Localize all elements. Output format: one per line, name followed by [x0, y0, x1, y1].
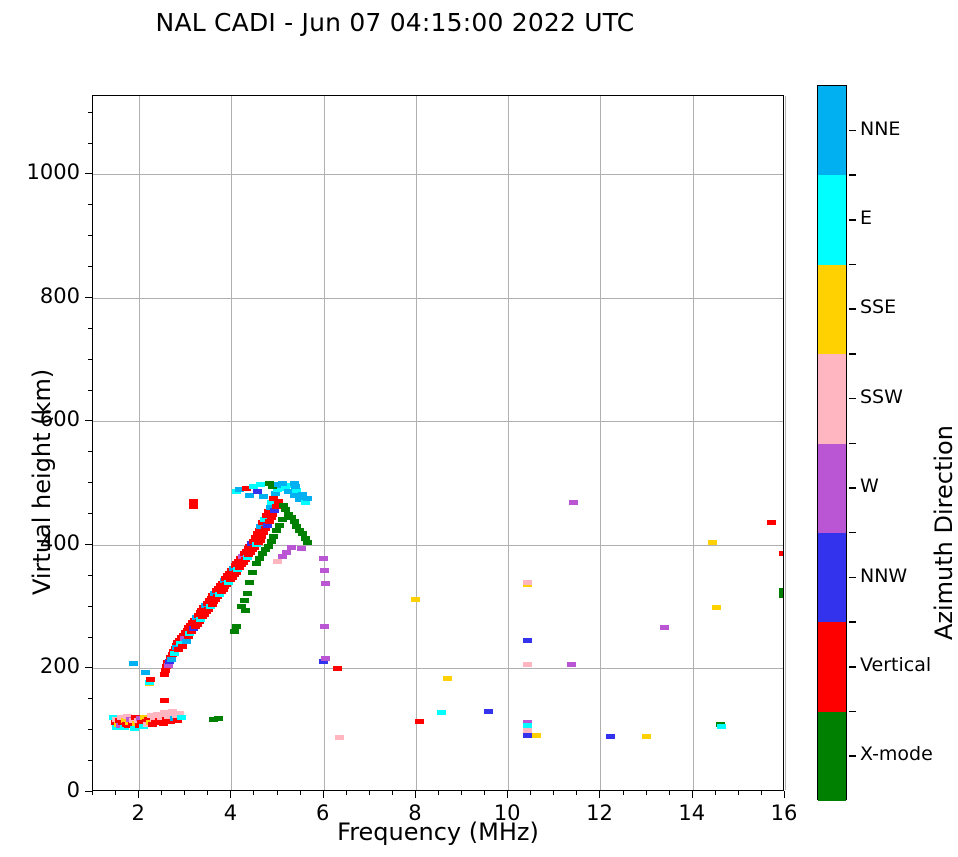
- echo-point: [178, 644, 187, 649]
- x-tick-mark: [576, 791, 577, 795]
- y-tick-label: 800: [10, 284, 80, 308]
- echo-point: [164, 663, 173, 668]
- azimuth-colorbar: [817, 85, 847, 800]
- y-tick-mark: [88, 266, 92, 267]
- colorbar-tick-mark: [849, 398, 856, 400]
- x-tick-mark: [161, 791, 162, 795]
- colorbar-tick-label: X-mode: [860, 743, 933, 765]
- colorbar-boundary-tick: [849, 532, 856, 534]
- echo-point: [189, 504, 198, 509]
- echo-point: [321, 656, 330, 661]
- x-tick-mark: [300, 791, 301, 795]
- x-tick-mark: [507, 791, 508, 798]
- x-tick-mark: [253, 791, 254, 795]
- colorbar-tick-mark: [849, 666, 856, 668]
- colorbar-tick-mark: [849, 130, 856, 132]
- x-tick-mark: [669, 791, 670, 795]
- x-tick-mark: [553, 791, 554, 795]
- y-tick-mark: [85, 791, 92, 792]
- x-tick-mark: [115, 791, 116, 795]
- y-tick-mark: [85, 544, 92, 545]
- echo-point: [779, 593, 783, 598]
- colorbar-segment-vertical: [818, 622, 846, 711]
- y-tick-mark: [88, 729, 92, 730]
- x-tick-mark: [138, 791, 139, 798]
- colorbar-tick-label: NNE: [860, 118, 900, 140]
- y-tick-mark: [88, 513, 92, 514]
- echo-point: [320, 624, 329, 629]
- y-tick-mark: [88, 451, 92, 452]
- colorbar-tick-mark: [849, 487, 856, 489]
- echo-point: [415, 719, 424, 724]
- x-tick-mark: [207, 791, 208, 795]
- echo-point: [642, 734, 651, 739]
- echo-point: [767, 520, 776, 525]
- x-tick-mark: [230, 791, 231, 798]
- x-tick-mark: [461, 791, 462, 795]
- echo-point: [532, 733, 541, 738]
- x-tick-mark: [784, 791, 785, 798]
- echo-point: [182, 639, 191, 644]
- echo-point: [569, 500, 578, 505]
- echo-point: [484, 709, 493, 714]
- colorbar-tick-mark: [849, 755, 856, 757]
- y-tick-mark: [85, 667, 92, 668]
- echo-point: [161, 668, 170, 673]
- gridline-vertical: [785, 96, 786, 790]
- echo-point: [243, 591, 252, 596]
- echo-point: [437, 710, 446, 715]
- x-axis-label: Frequency (MHz): [92, 818, 784, 846]
- y-tick-mark: [85, 173, 92, 174]
- echo-point: [259, 494, 268, 499]
- x-tick-mark: [646, 791, 647, 795]
- colorbar-boundary-tick: [849, 353, 856, 355]
- y-tick-label: 1000: [10, 160, 80, 184]
- echo-point: [272, 528, 281, 533]
- echo-point: [779, 551, 783, 556]
- echo-point: [248, 570, 257, 575]
- y-tick-mark: [88, 235, 92, 236]
- colorbar-tick-label: NNW: [860, 565, 907, 587]
- colorbar-tick-label: SSW: [860, 386, 903, 408]
- colorbar-tick-label: SSE: [860, 296, 896, 318]
- y-tick-mark: [88, 112, 92, 113]
- colorbar-boundary-tick: [849, 711, 856, 713]
- echo-point: [708, 540, 717, 545]
- echo-point: [129, 661, 138, 666]
- colorbar-tick-label: E: [860, 207, 872, 229]
- x-tick-mark: [92, 791, 93, 795]
- echo-point: [606, 734, 615, 739]
- colorbar-segment-x-mode: [818, 712, 846, 801]
- echo-point: [297, 546, 306, 551]
- echo-point: [319, 556, 328, 561]
- echo-point: [241, 608, 250, 613]
- y-tick-mark: [88, 482, 92, 483]
- x-tick-mark: [623, 791, 624, 795]
- echo-point: [240, 598, 249, 603]
- echo-point: [160, 698, 169, 703]
- echo-point: [278, 517, 287, 522]
- x-tick-mark: [438, 791, 439, 795]
- echo-point: [443, 676, 452, 681]
- colorbar-tick-mark: [849, 308, 856, 310]
- colorbar-segment-nne: [818, 86, 846, 175]
- colorbar-boundary-tick: [849, 621, 856, 623]
- echo-point: [177, 715, 186, 720]
- colorbar-tick-mark: [849, 577, 856, 579]
- echo-point: [291, 484, 300, 489]
- colorbar-tick-label: Vertical: [860, 654, 931, 676]
- echo-point: [141, 670, 150, 675]
- echo-point: [321, 581, 330, 586]
- x-tick-mark: [323, 791, 324, 798]
- x-tick-mark: [415, 791, 416, 798]
- colorbar-boundary-tick: [849, 174, 856, 176]
- colorbar-segment-ssw: [818, 354, 846, 443]
- y-tick-mark: [88, 328, 92, 329]
- y-tick-mark: [88, 390, 92, 391]
- echo-point: [523, 580, 532, 585]
- echo-point: [301, 500, 310, 505]
- y-tick-mark: [85, 420, 92, 421]
- x-tick-mark: [738, 791, 739, 795]
- x-tick-mark: [715, 791, 716, 795]
- echo-point: [523, 733, 532, 738]
- colorbar-boundary-tick: [849, 443, 856, 445]
- echo-point: [333, 666, 342, 671]
- echo-point: [167, 657, 176, 662]
- colorbar-boundary-tick: [849, 264, 856, 266]
- colorbar-segment-w: [818, 444, 846, 533]
- x-tick-mark: [484, 791, 485, 795]
- x-tick-mark: [392, 791, 393, 795]
- page-title: NAL CADI - Jun 07 04:15:00 2022 UTC: [0, 8, 790, 37]
- y-tick-mark: [88, 204, 92, 205]
- y-tick-mark: [88, 637, 92, 638]
- y-tick-label: 200: [10, 654, 80, 678]
- y-tick-mark: [88, 698, 92, 699]
- y-tick-label: 0: [10, 778, 80, 802]
- echo-point: [146, 677, 155, 682]
- echo-point: [523, 638, 532, 643]
- x-tick-mark: [530, 791, 531, 795]
- colorbar-segment-nnw: [818, 533, 846, 622]
- echo-scatter-layer: [93, 96, 783, 790]
- x-tick-mark: [761, 791, 762, 795]
- colorbar-tick-mark: [849, 219, 856, 221]
- echo-point: [712, 605, 721, 610]
- y-tick-mark: [88, 760, 92, 761]
- y-tick-mark: [88, 575, 92, 576]
- echo-point: [303, 540, 312, 545]
- echo-point: [660, 625, 669, 630]
- echo-point: [717, 724, 726, 729]
- echo-point: [273, 559, 282, 564]
- y-axis-label: Virtual height (km): [28, 369, 56, 595]
- y-tick-mark: [88, 143, 92, 144]
- colorbar-segment-sse: [818, 265, 846, 354]
- echo-point: [335, 735, 344, 740]
- y-tick-mark: [88, 359, 92, 360]
- colorbar-tick-label: W: [860, 475, 879, 497]
- x-tick-mark: [599, 791, 600, 798]
- echo-point: [320, 568, 329, 573]
- echo-point: [411, 597, 420, 602]
- echo-point: [523, 662, 532, 667]
- y-tick-mark: [88, 606, 92, 607]
- ionogram-axes: [92, 95, 784, 791]
- echo-point: [214, 716, 223, 721]
- x-tick-mark: [184, 791, 185, 795]
- y-tick-mark: [85, 297, 92, 298]
- echo-point: [303, 496, 312, 501]
- echo-point: [252, 561, 261, 566]
- x-tick-mark: [277, 791, 278, 795]
- echo-point: [230, 629, 239, 634]
- x-tick-mark: [346, 791, 347, 795]
- colorbar-label: Azimuth Direction: [930, 425, 958, 640]
- echo-point: [245, 580, 254, 585]
- x-tick-mark: [369, 791, 370, 795]
- colorbar-segment-e: [818, 175, 846, 264]
- echo-point: [567, 662, 576, 667]
- x-tick-mark: [692, 791, 693, 798]
